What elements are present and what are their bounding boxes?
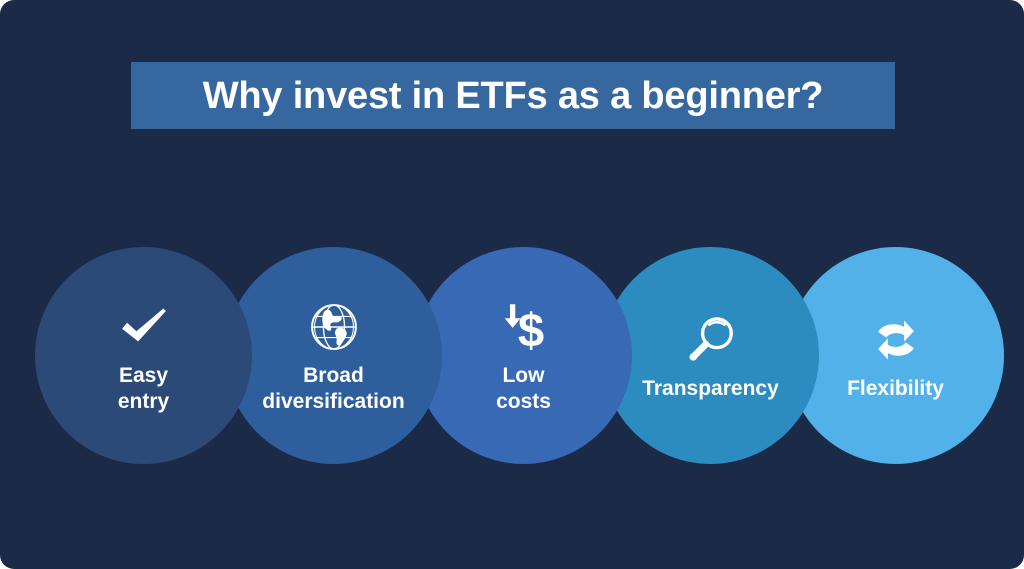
benefit-label: Flexibility [841,376,950,402]
benefit-circle-row: Easy entry Broad diversification [0,247,1024,464]
benefit-circle-transparency[interactable]: Transparency [602,247,819,464]
benefit-circle-broad-diversification[interactable]: Broad diversification [225,247,442,464]
benefit-circle-easy-entry[interactable]: Easy entry [35,247,252,464]
etf-benefits-infographic: Why invest in ETFs as a beginner? Easy e… [0,0,1024,569]
benefit-label: Transparency [636,376,785,402]
benefit-label: Low costs [490,363,557,414]
benefit-label: Easy entry [112,363,175,414]
dollar-down-arrow-icon: $ [494,297,554,357]
svg-text:$: $ [517,304,543,355]
benefit-circle-flexibility[interactable]: Flexibility [787,247,1004,464]
globe-icon [304,297,364,357]
checkmark-icon [114,297,174,357]
benefit-circle-low-costs[interactable]: $ Low costs [415,247,632,464]
page-title: Why invest in ETFs as a beginner? [203,77,824,115]
magnifying-glass-icon [681,310,741,370]
title-banner: Why invest in ETFs as a beginner? [131,62,895,129]
benefit-label: Broad diversification [256,363,410,414]
swap-arrows-icon [866,310,926,370]
